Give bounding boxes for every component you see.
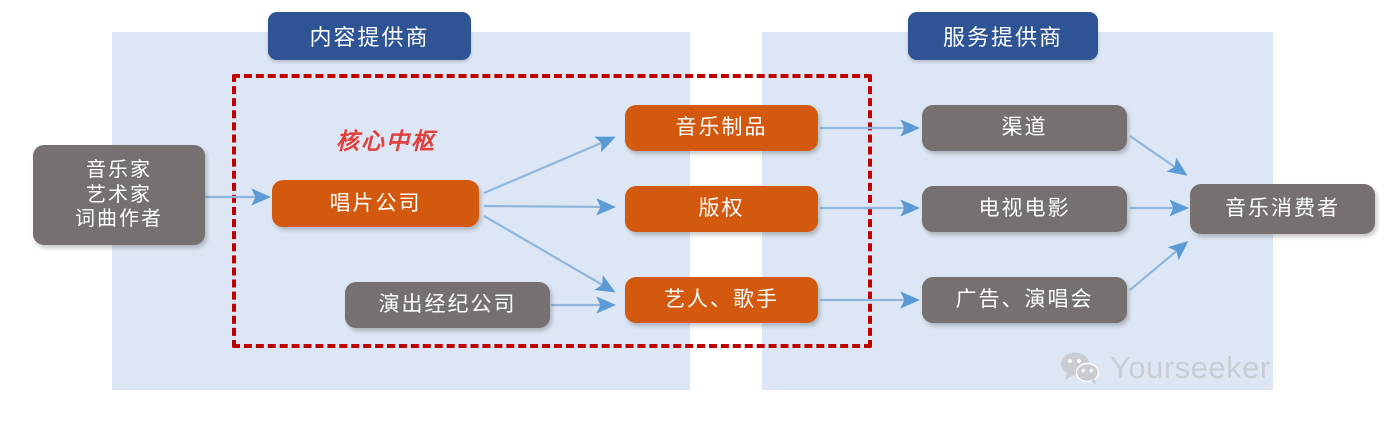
node-artists-singers: 艺人、歌手 <box>625 277 818 323</box>
node-copyright: 版权 <box>625 186 818 232</box>
node-channel-label: 渠道 <box>1002 115 1048 141</box>
node-copyright-label: 版权 <box>699 196 745 222</box>
node-performance-agency: 演出经纪公司 <box>345 282 550 328</box>
node-music-products: 音乐制品 <box>625 105 818 151</box>
node-creators: 音乐家 艺术家 词曲作者 <box>33 145 205 245</box>
node-creators-line-3: 词曲作者 <box>75 207 163 231</box>
node-record-company: 唱片公司 <box>272 180 479 227</box>
node-music-products-label: 音乐制品 <box>676 115 768 141</box>
node-tv-film-label: 电视电影 <box>979 196 1071 222</box>
node-creators-line-1: 音乐家 <box>86 158 152 182</box>
node-channel: 渠道 <box>922 105 1127 151</box>
node-artists-singers-label: 艺人、歌手 <box>664 287 779 313</box>
node-ads-concerts: 广告、演唱会 <box>922 277 1127 323</box>
node-ads-concerts-label: 广告、演唱会 <box>956 287 1094 313</box>
watermark: Yourseeker <box>1060 350 1271 386</box>
header-service-provider-label: 服务提供商 <box>943 20 1063 52</box>
core-hub-label: 核心中枢 <box>336 122 436 156</box>
diagram-canvas: 内容提供商 服务提供商 核心中枢 音乐家 艺术家 词曲作者 唱片公司 演出经纪公… <box>0 0 1397 427</box>
node-record-company-label: 唱片公司 <box>330 191 422 217</box>
header-service-provider: 服务提供商 <box>908 12 1098 60</box>
watermark-text: Yourseeker <box>1110 350 1271 386</box>
header-content-provider: 内容提供商 <box>268 12 471 60</box>
header-content-provider-label: 内容提供商 <box>309 20 429 52</box>
node-creators-line-2: 艺术家 <box>86 183 152 207</box>
node-performance-agency-label: 演出经纪公司 <box>379 292 517 318</box>
node-tv-film: 电视电影 <box>922 186 1127 232</box>
node-music-consumers: 音乐消费者 <box>1190 184 1375 234</box>
node-music-consumers-label: 音乐消费者 <box>1225 196 1340 222</box>
wechat-icon <box>1060 351 1100 385</box>
